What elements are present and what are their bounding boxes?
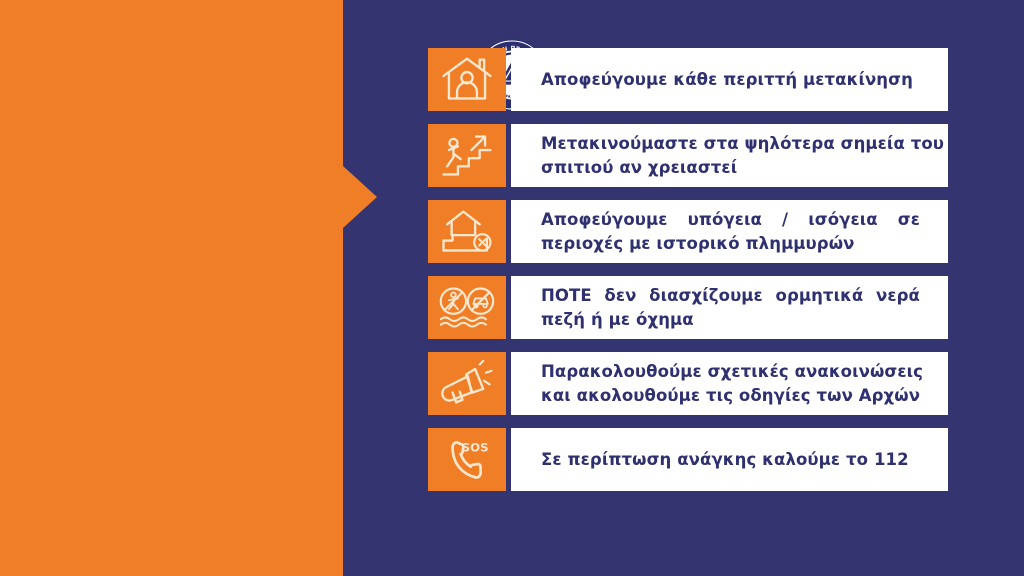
tip-row[interactable]: ΠΟΤΕ δεν διασχίζουμε ορμητικά νερά πεζή … bbox=[428, 276, 948, 339]
tips-list: Αποφεύγουμε κάθε περιττή μετακίνηση Μετα… bbox=[428, 48, 948, 491]
tip-text-box: Παρακολουθούμε σχετικές ανακοινώσεις και… bbox=[511, 352, 948, 415]
sos-phone-icon: SOS bbox=[428, 428, 506, 491]
no-pedestrian-no-vehicle-flood-icon bbox=[428, 276, 506, 339]
tip-text-box: Σε περίπτωση ανάγκης καλούμε το 112 bbox=[511, 428, 948, 491]
tip-label: ΠΟΤΕ δεν διασχίζουμε ορμητικά νερά πεζή … bbox=[541, 284, 948, 332]
tip-text-box: Αποφεύγουμε κάθε περιττή μετακίνηση bbox=[511, 48, 948, 111]
tip-text-box: ΠΟΤΕ δεν διασχίζουμε ορμητικά νερά πεζή … bbox=[511, 276, 948, 339]
basement-no-entry-icon bbox=[428, 200, 506, 263]
tip-label: Αποφεύγουμε υπόγεια / ισόγεια σε περιοχέ… bbox=[541, 208, 948, 256]
tip-text-box: Μετακινούμαστε στα ψηλότερα σημεία του σ… bbox=[511, 124, 948, 187]
tip-row[interactable]: SOS Σε περίπτωση ανάγκης καλούμε το 112 bbox=[428, 428, 948, 491]
panel-arrow-pointer bbox=[343, 166, 377, 228]
tip-label: Παρακολουθούμε σχετικές ανακοινώσεις και… bbox=[541, 360, 948, 408]
left-orange-panel bbox=[0, 0, 343, 576]
tip-row[interactable]: Αποφεύγουμε υπόγεια / ισόγεια σε περιοχέ… bbox=[428, 200, 948, 263]
tip-label: Μετακινούμαστε στα ψηλότερα σημεία του σ… bbox=[541, 132, 948, 180]
poster-canvas: ΠΟΛΙΤΙΚΗ ΠΡΟΣΤΑΣΙΑ ΕΛΛΑΔΑ ΑΚΡΑΙΑ ΚΑΙΡΙΚΑ… bbox=[0, 0, 1024, 576]
sos-label: SOS bbox=[462, 440, 489, 454]
tip-row[interactable]: Μετακινούμαστε στα ψηλότερα σημεία του σ… bbox=[428, 124, 948, 187]
tip-row[interactable]: Παρακολουθούμε σχετικές ανακοινώσεις και… bbox=[428, 352, 948, 415]
tip-text-box: Αποφεύγουμε υπόγεια / ισόγεια σε περιοχέ… bbox=[511, 200, 948, 263]
person-climbing-stairs-up-arrow-icon bbox=[428, 124, 506, 187]
tip-label: Σε περίπτωση ανάγκης καλούμε το 112 bbox=[541, 448, 909, 472]
house-with-person-icon bbox=[428, 48, 506, 111]
tip-row[interactable]: Αποφεύγουμε κάθε περιττή μετακίνηση bbox=[428, 48, 948, 111]
tip-label: Αποφεύγουμε κάθε περιττή μετακίνηση bbox=[541, 68, 913, 92]
megaphone-icon bbox=[428, 352, 506, 415]
